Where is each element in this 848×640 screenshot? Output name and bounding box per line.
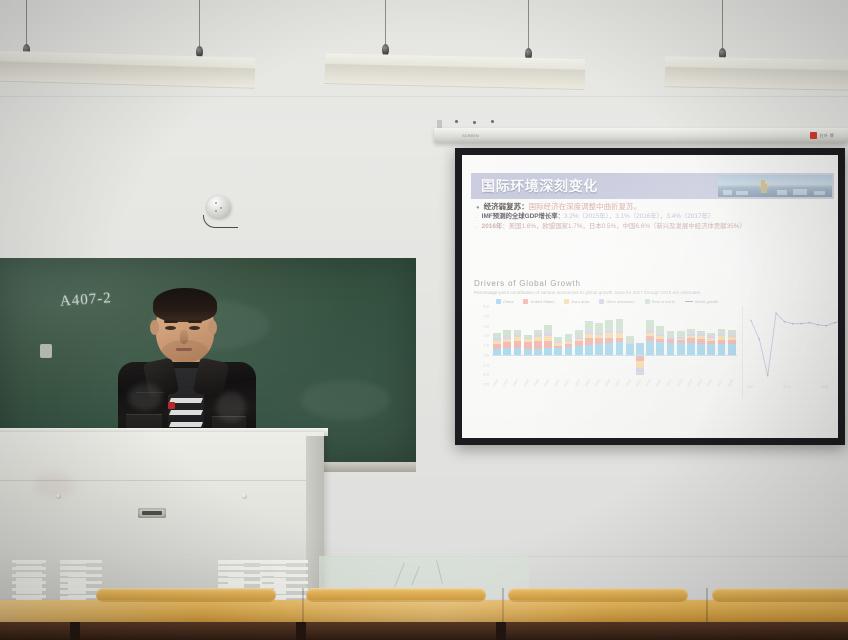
chart-zero-line (492, 355, 737, 356)
bar-segment (656, 336, 664, 339)
bar-column (706, 306, 716, 384)
desk-leg (496, 622, 506, 640)
bar-segment (585, 321, 593, 331)
chart-legend: ChinaUnited StatesEuro areaOther advance… (474, 299, 832, 304)
bar-column (614, 306, 624, 384)
bar-segment (646, 320, 654, 330)
slide-bullet-list: ● 经济弱复苏：国际经济在深度调整中曲折复苏。 · IMF预测的全球GDP增长率… (471, 203, 834, 231)
bar-segment (687, 334, 695, 336)
bullet-rest: 美国1.6%，欧盟国家1.7%，日本0.5%，中国6.6%（新兴及发展中经济体贡… (509, 223, 746, 230)
bar-segment (493, 338, 501, 341)
bullet-lead: 2016年 (482, 223, 503, 230)
bar-segment (626, 336, 634, 343)
legend-label: Rest of world (652, 299, 675, 304)
line-marker (817, 324, 819, 326)
slide-bullet-item: · 2016年：美国1.6%，欧盟国家1.7%，日本0.5%，中国6.6%（新兴… (476, 224, 834, 231)
bar-segment (605, 320, 613, 331)
line-marker (825, 325, 827, 327)
screen-surface: 国际环境深刻变化 (462, 155, 838, 438)
legend-swatch (496, 299, 501, 304)
podium-screw (56, 494, 61, 499)
hair (153, 288, 217, 322)
chart-y-axis: 5.04.03.02.01.00.0-1.0-2.0-3.0 (474, 306, 491, 384)
podium-panel-line (0, 480, 306, 481)
bar-segment (697, 331, 705, 335)
bar-segment (677, 331, 685, 338)
bar-segment (667, 331, 675, 338)
bar-segment (544, 325, 552, 333)
mouth (176, 348, 192, 351)
bullet-marker-icon: ● (476, 205, 480, 211)
bar-segment (575, 337, 583, 339)
line-x-tick: 2007 (747, 385, 755, 389)
bar-segment (636, 343, 644, 355)
bar-segment (514, 335, 522, 337)
y-tick-label: 1.0 (483, 343, 489, 348)
y-tick-label: 5.0 (483, 304, 489, 309)
bar-segment (544, 348, 552, 355)
nose (180, 330, 188, 344)
bar-segment (728, 340, 736, 344)
line-x-tick: 2013 (783, 385, 791, 389)
bar-segment (656, 342, 664, 355)
bar-segment (677, 339, 685, 343)
slide-bullet-item: · IMF预测的全球GDP增长率：3.2%（2015年），3.1%（2016年）… (476, 214, 834, 221)
bar-segment (687, 336, 695, 338)
bar-segment (616, 342, 624, 355)
legend-swatch (685, 301, 693, 303)
y-tick-label: -1.0 (482, 362, 489, 367)
bar-segment (728, 344, 736, 355)
ceiling-light-fixture (325, 53, 586, 90)
bar-segment (605, 338, 613, 343)
bar-segment (575, 339, 583, 341)
legend-swatch (599, 299, 604, 304)
bullet-marker-icon: · (476, 226, 478, 231)
y-tick-label: 0.0 (483, 352, 489, 357)
legend-item: Euro area (564, 299, 589, 304)
bar-segment (718, 329, 726, 335)
bar-column (584, 306, 594, 384)
line-series-path (751, 313, 839, 375)
bar-segment (646, 336, 654, 341)
jacket-badge (168, 402, 175, 409)
bullet-rest: 3.2%（2015年），3.1%（2016年），3.4%（2017年） (564, 213, 714, 220)
podium-lock-handle[interactable] (138, 508, 166, 518)
eyebrow-left (164, 320, 178, 323)
bar-column (727, 306, 737, 384)
bar-segment (493, 341, 501, 344)
bar-segment (677, 343, 685, 355)
bar-segment (616, 333, 624, 338)
bar-segment (728, 335, 736, 337)
bar-segment (595, 338, 603, 344)
bar-segment (667, 337, 675, 339)
bullet-marker-icon: · (476, 216, 478, 221)
light-cable (528, 0, 529, 52)
bar-segment (565, 342, 573, 344)
bar-segment (554, 346, 562, 348)
bar-segment (636, 361, 644, 368)
bar-segment (503, 339, 511, 342)
bar-segment (575, 341, 583, 346)
projection-screen: 国际环境深刻变化 (455, 148, 845, 445)
bar-column (625, 306, 635, 384)
line-marker (833, 322, 835, 324)
bar-segment (503, 342, 511, 348)
bar-segment (728, 330, 736, 336)
ear-right (208, 320, 217, 335)
bar-column (635, 306, 645, 384)
bar-column (502, 306, 512, 384)
bar-segment (514, 337, 522, 341)
jacket-highlight (128, 384, 162, 410)
bar-segment (585, 334, 593, 338)
line-marker (783, 321, 785, 323)
presentation-slide: 国际环境深刻变化 (462, 155, 838, 438)
bar-segment (605, 343, 613, 355)
bar-segment (605, 331, 613, 334)
blackboard-clip (40, 344, 52, 358)
bar-segment (718, 344, 726, 355)
bar-segment (718, 334, 726, 336)
student-desks (0, 588, 848, 640)
y-tick-label: 4.0 (483, 313, 489, 318)
bar-column (676, 306, 686, 384)
bar-segment (503, 330, 511, 337)
world-growth-line (747, 306, 839, 384)
y-tick-label: 3.0 (483, 323, 489, 328)
bar-segment (626, 344, 634, 355)
desk-leg (70, 622, 80, 640)
light-cable (722, 0, 723, 52)
legend-swatch (523, 299, 528, 304)
y-tick-label: 2.0 (483, 333, 489, 338)
bar-column (655, 306, 665, 384)
legend-item: Other advanced (599, 299, 634, 304)
slide-bullet-item: ● 经济弱复苏：国际经济在深度调整中曲折复苏。 (476, 203, 834, 211)
legend-label: Other advanced (606, 299, 634, 304)
ear-left (150, 320, 159, 335)
line-marker (791, 323, 793, 325)
chart-x-axis: 1995199619971998199920002001200220032004… (492, 385, 737, 399)
bar-segment (565, 334, 573, 340)
jacket-pocket (126, 414, 162, 429)
legend-item: Rest of world (645, 299, 675, 304)
bar-segment (595, 333, 603, 336)
bar-column (512, 306, 522, 384)
bar-segment (565, 347, 573, 355)
wall-screws (455, 120, 515, 126)
podium-smudge (34, 472, 74, 498)
bar-segment (575, 330, 583, 338)
bar-segment (544, 336, 552, 341)
classroom-photo: A407-2 SCREEN 红叶 牌 国际环境深刻变化 (0, 0, 848, 640)
eye-right (189, 326, 200, 330)
bar-segment (707, 338, 715, 341)
slide-chart: Drivers of Global Growth Percentage-poin… (474, 279, 832, 430)
wall-seam (0, 96, 848, 97)
podium-screw (242, 494, 247, 499)
bar-column (645, 306, 655, 384)
bar-segment (514, 341, 522, 348)
bar-column (696, 306, 706, 384)
eye-left (165, 326, 176, 330)
bar-segment (503, 348, 511, 355)
bar-segment (656, 339, 664, 342)
bar-segment (697, 344, 705, 355)
bar-segment (616, 338, 624, 342)
bar-segment (524, 338, 532, 342)
bar-segment (534, 341, 542, 349)
chart-subtitle: Percentage-point contribution of various… (474, 290, 725, 296)
light-cable (385, 0, 386, 48)
bar-segment (565, 340, 573, 342)
bar-segment (554, 343, 562, 346)
bar-segment (697, 336, 705, 339)
line-marker (758, 339, 760, 341)
bar-segment (605, 333, 613, 338)
bar-column (492, 306, 502, 384)
chart-plot-area: 5.04.03.02.01.00.0-1.0-2.0-3.0 199519961… (474, 306, 832, 398)
light-cable (26, 0, 27, 48)
bar-segment (707, 344, 715, 355)
bar-segment (687, 343, 695, 355)
eyebrow-right (188, 320, 202, 323)
desk-front-panel (0, 622, 848, 640)
bullet-sep: ： (521, 202, 529, 211)
bar-segment (554, 337, 562, 342)
bar-column (686, 306, 696, 384)
bar-segment (524, 342, 532, 349)
slide-title: 国际环境深刻变化 (471, 176, 598, 196)
bar-segment (585, 345, 593, 355)
bar-segment (544, 333, 552, 337)
shirt-stripe (169, 422, 203, 427)
line-marker (766, 375, 768, 377)
line-x-axis: 200720132018 (747, 385, 829, 389)
bar-segment (667, 339, 675, 343)
desk-leg (296, 622, 306, 640)
bar-segment (595, 344, 603, 355)
bar-segment (707, 336, 715, 338)
line-marker (800, 323, 802, 325)
bar-segment (524, 335, 532, 338)
line-marker (750, 320, 752, 322)
bar-segment (585, 331, 593, 335)
bar-segment (554, 348, 562, 355)
bars-plot (492, 306, 737, 384)
bar-segment (595, 335, 603, 338)
bar-segment (707, 333, 715, 337)
legend-label: World growth (695, 299, 719, 304)
legend-label: Euro area (571, 299, 589, 304)
bullet-lead: IMF预测的全球GDP增长率 (482, 213, 558, 220)
legend-label: United States (530, 299, 554, 304)
bar-segment (718, 336, 726, 340)
bar-segment (565, 344, 573, 347)
bar-column (604, 306, 614, 384)
bar-column (533, 306, 543, 384)
slide-title-bar: 国际环境深刻变化 (471, 173, 834, 199)
slide-banner-photo (718, 175, 832, 197)
bar-column (553, 306, 563, 384)
y-tick-label: -2.0 (482, 372, 489, 377)
legend-swatch (564, 299, 569, 304)
bullet-rest: 国际经济在深度调整中曲折复苏。 (529, 202, 642, 211)
bar-segment (616, 331, 624, 334)
bar-segment (667, 343, 675, 355)
bar-segment (718, 340, 726, 344)
chalk-smudge (300, 380, 390, 420)
bar-segment (514, 330, 522, 336)
bar-segment (687, 338, 695, 343)
bar-segment (544, 341, 552, 348)
bar-segment (575, 346, 583, 355)
bar-segment (503, 336, 511, 339)
legend-item: China (496, 299, 513, 304)
projector-screen-housing: SCREEN 红叶 牌 (434, 128, 848, 143)
legend-label: China (503, 299, 513, 304)
line-marker (775, 313, 777, 315)
bar-segment (656, 326, 664, 335)
bar-segment (728, 337, 736, 340)
bar-segment (585, 338, 593, 345)
bar-segment (646, 330, 654, 334)
bar-column (716, 306, 726, 384)
bar-segment (687, 329, 695, 335)
bar-segment (493, 344, 501, 349)
legend-swatch (645, 299, 650, 304)
screen-brand-logo-icon: 红叶 牌 (810, 132, 834, 139)
desk-gloss (0, 600, 848, 622)
line-x-tick: 2018 (820, 385, 828, 389)
bar-segment (534, 334, 542, 337)
presenter (112, 288, 262, 448)
bar-segment (534, 330, 542, 335)
bar-segment (636, 372, 644, 375)
bar-segment (646, 333, 654, 336)
bar-column (543, 306, 553, 384)
bar-column (594, 306, 604, 384)
jacket-seam (136, 392, 164, 393)
legend-item: World growth (685, 299, 719, 304)
speaker-wire (203, 215, 238, 228)
bar-segment (656, 334, 664, 336)
shirt-stripe (169, 410, 203, 415)
bar-column (563, 306, 573, 384)
y-tick-label: -3.0 (482, 382, 489, 387)
bullet-lead: 经济弱复苏 (484, 202, 522, 211)
bar-column (523, 306, 533, 384)
housing-brand-text: SCREEN (462, 133, 479, 138)
legend-item: United States (523, 299, 554, 304)
bar-segment (554, 342, 562, 343)
line-marker (808, 322, 810, 324)
bar-segment (616, 319, 624, 331)
ceiling-light-fixture (665, 56, 848, 91)
bar-segment (595, 323, 603, 333)
bar-segment (677, 337, 685, 339)
light-cable (199, 0, 200, 50)
bar-segment (493, 333, 501, 339)
bar-segment (514, 348, 522, 355)
chart-title: Drivers of Global Growth (474, 279, 832, 288)
blackboard-chalk-text: A407-2 (59, 290, 112, 311)
line-panel: 200720132018 (742, 306, 833, 398)
bar-segment (707, 341, 715, 344)
bar-column (665, 306, 675, 384)
bar-column (574, 306, 584, 384)
bar-segment (697, 339, 705, 344)
bar-segment (646, 341, 654, 355)
bar-segment (534, 337, 542, 341)
bar-panel: 5.04.03.02.01.00.0-1.0-2.0-3.0 199519961… (474, 306, 739, 398)
bar-segment (697, 334, 705, 336)
